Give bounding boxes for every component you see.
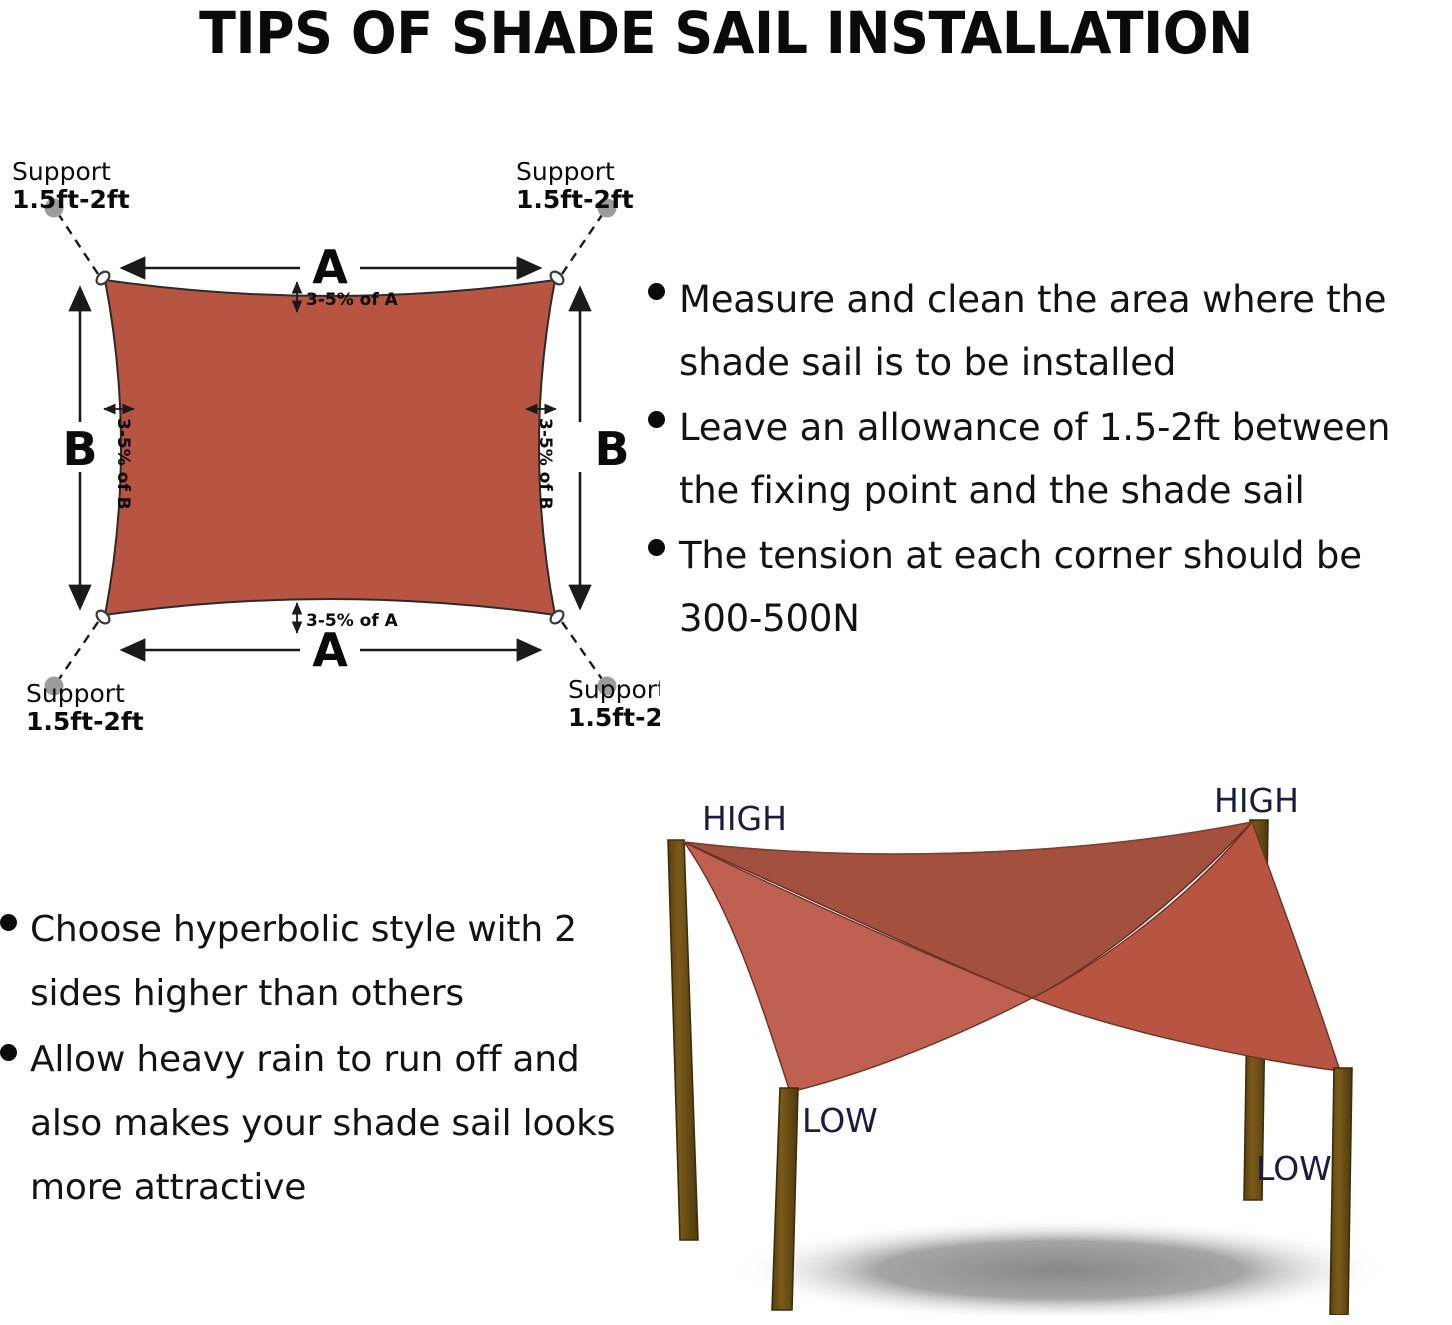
pole-low-right: [1330, 1068, 1352, 1315]
curve-label-right: 3-5% of B: [535, 418, 555, 510]
support-label-top-right: Support 1.5ft-2ft: [516, 160, 634, 214]
sail-hyperbolic: [684, 822, 1340, 1092]
bullet-dot-icon: [0, 1044, 17, 1061]
support-title: Support: [568, 675, 660, 704]
top-diagram-rectangular-sail: A 3-5% of A A 3-5% of A B: [0, 160, 660, 730]
list-item: Allow heavy rain to run off and also mak…: [0, 1028, 630, 1220]
list-item: Measure and clean the area where the sha…: [648, 268, 1452, 394]
hyperbolic-style-tips-list: Choose hyperbolic style with 2 sides hig…: [0, 898, 630, 1222]
list-item-text: Measure and clean the area where the sha…: [679, 268, 1452, 394]
dimension-label-a-bottom: A: [312, 623, 348, 677]
support-title: Support: [12, 160, 111, 186]
pole-high-left: [668, 840, 698, 1240]
support-value: 1.5ft-2ft: [12, 185, 130, 214]
bullet-dot-icon: [0, 914, 17, 931]
list-item-text: Leave an allowance of 1.5-2ft between th…: [679, 396, 1452, 522]
support-label-bottom-right: Support 1.5ft-2ft: [568, 675, 660, 730]
sail-shape: [105, 280, 555, 615]
bottom-diagram-hyperbolic-sail: HIGH HIGH LOW LOW: [640, 770, 1452, 1315]
curve-label-top: 3-5% of A: [306, 290, 399, 310]
curve-label-bottom: 3-5% of A: [306, 611, 399, 631]
dimension-a-top: A: [122, 240, 540, 294]
label-low-front-left: LOW: [802, 1101, 878, 1140]
list-item-text: The tension at each corner should be 300…: [679, 524, 1452, 650]
support-value: 1.5ft-2ft: [516, 185, 634, 214]
ground-shadow: [730, 1218, 1390, 1315]
curve-note-left: 3-5% of B: [104, 409, 134, 510]
support-label-bottom-left: Support 1.5ft-2ft: [26, 679, 144, 730]
label-high-left: HIGH: [702, 799, 787, 838]
curve-note-bottom: 3-5% of A: [297, 603, 399, 633]
installation-tips-list: Measure and clean the area where the sha…: [648, 268, 1452, 652]
list-item-text: Allow heavy rain to run off and also mak…: [30, 1028, 630, 1220]
support-value: 1.5ft-2ft: [568, 703, 660, 730]
label-high-right: HIGH: [1214, 781, 1299, 820]
bullet-dot-icon: [648, 539, 665, 556]
bullet-dot-icon: [648, 283, 665, 300]
support-title: Support: [516, 160, 615, 186]
support-title: Support: [26, 679, 125, 708]
support-label-top-left: Support 1.5ft-2ft: [12, 160, 130, 214]
page-title: TIPS OF SHADE SAIL INSTALLATION: [51, 2, 1401, 64]
list-item: Leave an allowance of 1.5-2ft between th…: [648, 396, 1452, 522]
curve-label-left: 3-5% of B: [113, 418, 133, 510]
bullet-dot-icon: [648, 411, 665, 428]
list-item-text: Choose hyperbolic style with 2 sides hig…: [30, 898, 630, 1026]
list-item: Choose hyperbolic style with 2 sides hig…: [0, 898, 630, 1026]
dimension-b-right: B: [580, 288, 630, 608]
dimension-label-b-left: B: [62, 422, 97, 476]
support-value: 1.5ft-2ft: [26, 707, 144, 730]
dimension-label-a-top: A: [312, 240, 348, 294]
dimension-b-left: B: [62, 288, 97, 608]
infographic-page: TIPS OF SHADE SAIL INSTALLATION: [0, 0, 1452, 1325]
list-item: The tension at each corner should be 300…: [648, 524, 1452, 650]
dimension-a-bottom: A: [122, 623, 540, 677]
label-low-front-right: LOW: [1256, 1149, 1332, 1188]
dimension-label-b-right: B: [594, 422, 629, 476]
